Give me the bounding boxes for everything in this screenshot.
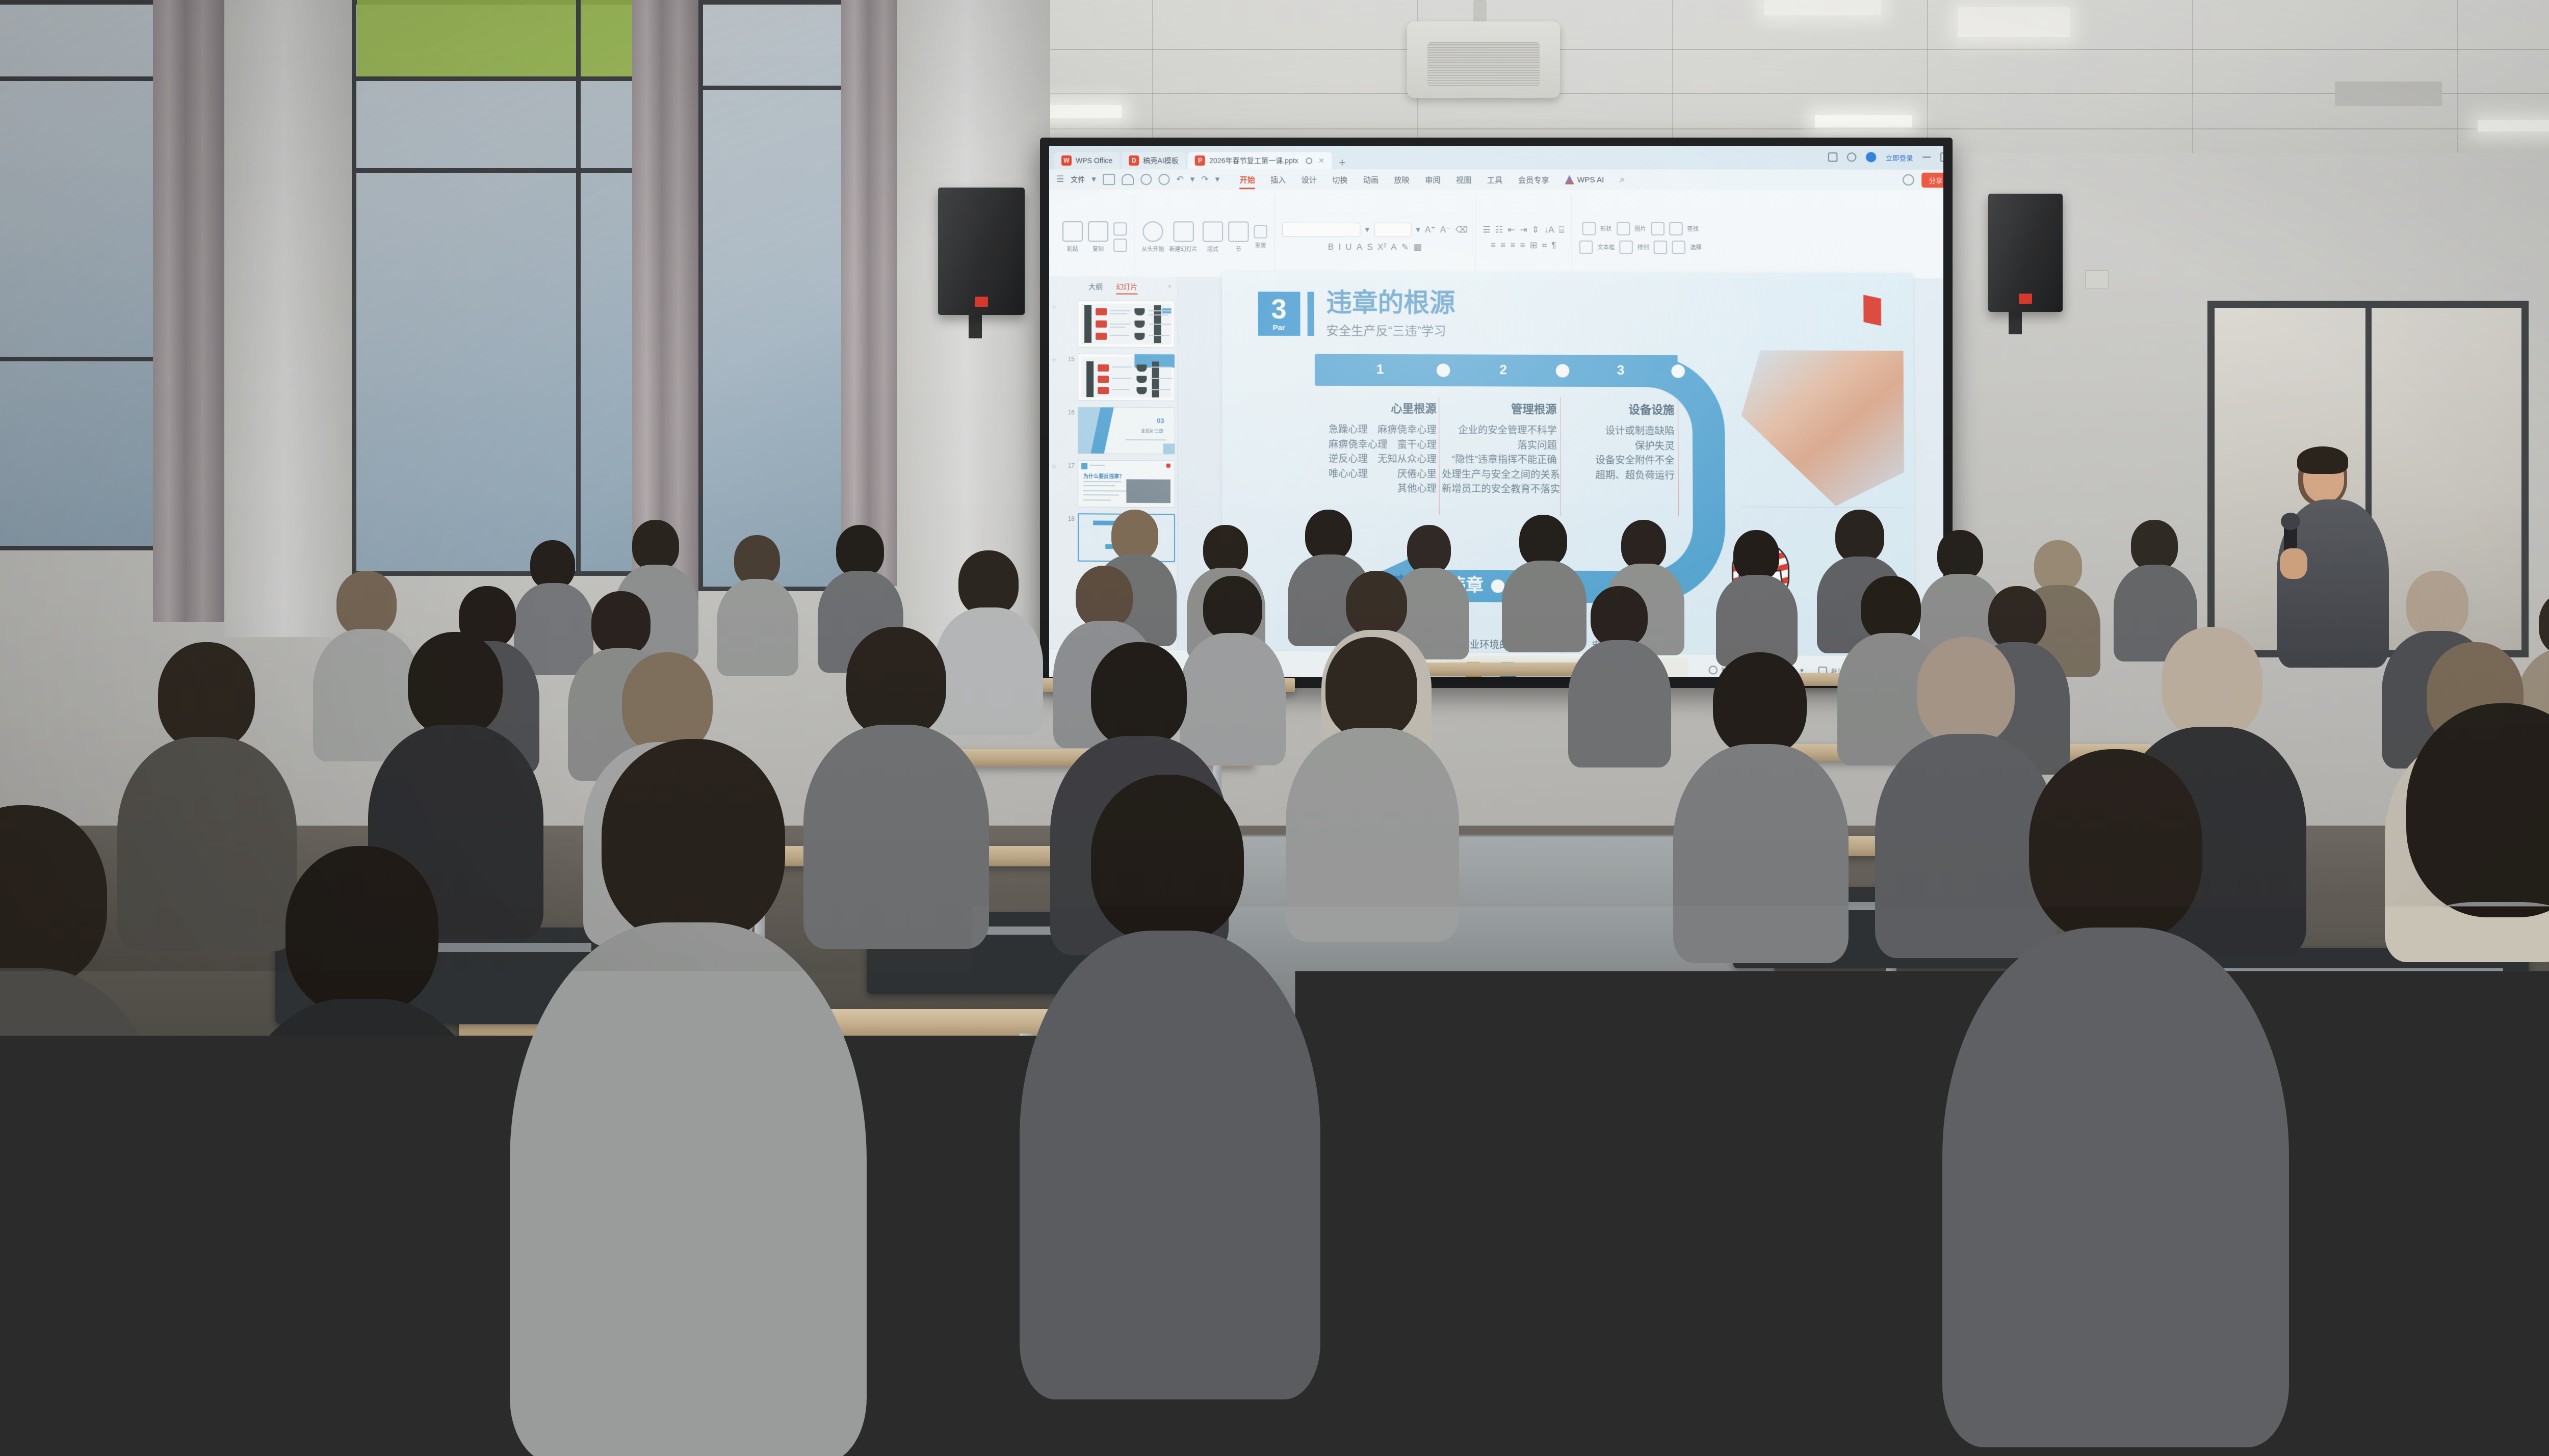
wps-ai-button[interactable]: WPS AI xyxy=(1565,175,1604,184)
column-heading: 管理根源 xyxy=(1442,400,1557,416)
justify-icon[interactable]: ≡ xyxy=(1520,241,1525,251)
ribbon-group-slides: 从头开始 新建幻灯片 版式 节 重置 xyxy=(1134,194,1275,281)
thumb-text: 03 xyxy=(1157,417,1164,425)
print-icon[interactable] xyxy=(1122,174,1134,185)
column-line: 落实问题 xyxy=(1442,438,1557,453)
column-line: 处理生产与安全之间的关系 xyxy=(1442,467,1557,483)
textbox-icon[interactable] xyxy=(1579,241,1593,254)
bullets-icon[interactable]: ☰ xyxy=(1482,225,1491,235)
editor-body: 大纲 幻灯片 ‹ ☆ xyxy=(1049,276,1943,657)
quick-access-toolbar: ☰ 文件 ▾ ↶ ▾ ↷ ▾ 开始 插入 设计 切换 动画 放映 审阅 xyxy=(1049,169,1943,190)
ribbon-group-paragraph: ☰ ☷ ⇤ ⇥ ⇕ ↓A ⌸ ≡ ≡ ≡ ≡ xyxy=(1475,194,1572,282)
select-icon[interactable] xyxy=(1672,241,1685,254)
ribbon-label: 图片 xyxy=(1634,225,1646,233)
copy-icon[interactable] xyxy=(1088,221,1108,242)
undo-icon[interactable]: ↶ xyxy=(1176,174,1183,184)
ribbon-tab-design[interactable]: 设计 xyxy=(1302,173,1317,186)
decrease-indent-icon[interactable]: ⇤ xyxy=(1508,225,1516,235)
font-family-select[interactable] xyxy=(1282,223,1361,237)
align-left-icon[interactable]: ≡ xyxy=(1491,241,1496,251)
slide-panel-tabs: 大纲 幻灯片 ‹ xyxy=(1049,276,1177,298)
column-line: 设备安全附件不全 xyxy=(1563,454,1675,469)
increase-indent-icon[interactable]: ⇥ xyxy=(1520,225,1527,235)
flow-step-number: 2 xyxy=(1499,362,1507,378)
app-tab-label: 2026年春节复工第一课.pptx xyxy=(1209,155,1298,166)
part-word: Par xyxy=(1272,324,1285,332)
hand xyxy=(2280,548,2307,579)
flow-column-1: 心里根源 急躁心理 麻痹侥幸心理 麻痹侥幸心理 蛮干心理 逆反心理 无知从众心理… xyxy=(1319,399,1437,497)
star-icon: ☆ xyxy=(1051,354,1058,364)
font-size-select[interactable] xyxy=(1374,223,1411,237)
paragraph-icon[interactable]: ¶ xyxy=(1551,241,1556,251)
ceiling-light xyxy=(1764,0,1881,15)
training-room-photo: W WPS Office D 稿壳AI模板 P 2026年春节复工第一课.ppt… xyxy=(0,0,2549,1456)
cut-icon[interactable] xyxy=(1113,222,1127,235)
tab-restore-icon[interactable] xyxy=(1306,157,1312,164)
app-tabstrip: W WPS Office D 稿壳AI模板 P 2026年春节复工第一课.ppt… xyxy=(1049,146,1943,170)
ceiling-light xyxy=(1958,7,2070,37)
redo-icon[interactable]: ↷ xyxy=(1201,174,1208,184)
window-left-outer xyxy=(0,0,158,550)
ribbon-label: 选择 xyxy=(1690,243,1702,251)
flow-step-number: 1 xyxy=(1376,361,1384,377)
speaker-mount xyxy=(969,312,982,338)
thumb-text: 为什么要反违章？ xyxy=(1083,472,1124,480)
column-heading: 设备设施 xyxy=(1563,400,1675,417)
restore-button[interactable] xyxy=(1940,152,1943,162)
export-pdf-icon[interactable] xyxy=(1158,174,1169,185)
column-line: 其他心理 xyxy=(1319,482,1437,497)
cloud-sync-icon[interactable] xyxy=(1903,174,1914,186)
ribbon-right-actions: 分享 xyxy=(1903,172,1943,188)
file-menu[interactable]: 文件 xyxy=(1071,174,1085,184)
chevron-left-icon[interactable]: ‹ xyxy=(1168,282,1171,290)
bold-icon[interactable]: B xyxy=(1328,242,1334,252)
shapes-icon[interactable] xyxy=(1582,222,1596,235)
star-icon: ☆ xyxy=(1051,300,1058,310)
strikethrough-icon[interactable]: S xyxy=(1367,242,1373,252)
ribbon-label: 新建幻灯片 xyxy=(1169,245,1198,253)
ribbon-tab-transition[interactable]: 切换 xyxy=(1332,173,1347,186)
chevron-down-icon[interactable]: ▾ xyxy=(1416,225,1420,235)
cube-icon[interactable] xyxy=(1847,152,1857,162)
green-facade-band xyxy=(357,0,635,76)
wall-socket xyxy=(2085,270,2109,288)
align-center-icon[interactable]: ≡ xyxy=(1500,241,1505,251)
slide-number: 15 xyxy=(1061,354,1075,363)
wps-office-window[interactable]: W WPS Office D 稿壳AI模板 P 2026年春节复工第一课.ppt… xyxy=(1049,146,1943,677)
fill-icon[interactable] xyxy=(1651,222,1664,235)
distribute-icon[interactable]: ⊞ xyxy=(1530,241,1538,251)
numbering-icon[interactable]: ☷ xyxy=(1495,225,1503,235)
ribbon-label: 排列 xyxy=(1637,243,1649,251)
column-line: 企业的安全管理不科学 xyxy=(1442,423,1557,439)
ribbon-label: 复制 xyxy=(1093,245,1104,253)
reset-icon[interactable] xyxy=(1254,225,1267,239)
search-icon[interactable]: ⌕ xyxy=(1620,175,1625,185)
slide-number xyxy=(1061,300,1075,302)
ribbon-tab-view[interactable]: 视图 xyxy=(1456,173,1472,186)
column-line: 新增员工的安全教育不落实 xyxy=(1442,482,1557,497)
slide-header: 3 Par 违章的根源 安全生产反“三违”学习 xyxy=(1258,289,1455,338)
menu-icon[interactable]: ☰ xyxy=(1056,174,1064,184)
star-icon xyxy=(1051,407,1058,410)
slide-number: 17 xyxy=(1061,460,1075,469)
column-line: 急躁心理 麻痹侥幸心理 xyxy=(1319,423,1437,438)
layout-icon[interactable] xyxy=(1203,221,1223,242)
highlight-icon[interactable]: ✎ xyxy=(1401,242,1409,252)
divider xyxy=(1741,507,1904,508)
ribbon-label: 形状 xyxy=(1600,225,1611,233)
login-button[interactable]: 立即登录 xyxy=(1886,152,1913,162)
save-icon[interactable] xyxy=(1103,174,1115,185)
ribbon-tab-tools[interactable]: 工具 xyxy=(1487,173,1503,186)
slide-thumbnail[interactable] xyxy=(1078,354,1175,401)
pptx-icon: P xyxy=(1195,155,1205,166)
ribbon-label: 从头开始 xyxy=(1141,245,1164,253)
slide-thumbnail[interactable] xyxy=(1078,300,1175,348)
wps-ai-label: WPS AI xyxy=(1577,175,1604,184)
clear-format-icon[interactable]: ⌫ xyxy=(1455,225,1467,235)
font-color-icon[interactable]: A xyxy=(1391,242,1397,252)
align-right-icon[interactable]: ≡ xyxy=(1510,241,1515,251)
avatar[interactable] xyxy=(1866,152,1877,162)
thumb-caption: 全员反“三违” xyxy=(1141,428,1164,434)
app-tab-template[interactable]: D 稿壳AI模板 xyxy=(1122,152,1186,169)
section-icon[interactable] xyxy=(1228,222,1249,242)
app-tab-presentation[interactable]: P 2026年春节复工第一课.pptx ✕ xyxy=(1188,152,1332,169)
red-flag-shape xyxy=(1863,295,1881,326)
ribbon-label: 版式 xyxy=(1207,245,1218,253)
star-icon xyxy=(1051,513,1058,516)
ceiling-light xyxy=(1815,115,1912,127)
ceiling-ac-cassette-icon xyxy=(1407,21,1560,98)
wall-speaker-right xyxy=(1988,194,2063,312)
ribbon-label: 粘贴 xyxy=(1067,245,1078,253)
column-heading: 心里根源 xyxy=(1319,399,1437,416)
column-line: 麻痹侥幸心理 蛮干心理 xyxy=(1319,437,1437,453)
chevron-down-icon[interactable]: ▾ xyxy=(1190,174,1195,184)
list-item[interactable]: ☆ 15 xyxy=(1051,354,1175,401)
ribbon-label: 节 xyxy=(1236,245,1241,253)
ribbon-group-font: ▾ ▾ A⁺ A⁻ ⌫ B I U A S X² xyxy=(1275,194,1476,281)
start-slideshow-icon[interactable] xyxy=(1142,221,1163,242)
slide-thumbnail[interactable]: 为什么要反违章？ xyxy=(1078,460,1175,508)
handshake-photo xyxy=(1741,350,1904,507)
format-painter-icon[interactable] xyxy=(1113,239,1127,252)
column-line: 唯心心理 厌倦心里 xyxy=(1319,467,1437,482)
text-layout-icon[interactable]: ⌗ xyxy=(1542,241,1547,251)
part-number: 3 xyxy=(1271,296,1286,323)
new-tab-button[interactable]: + xyxy=(1334,156,1350,169)
flow-step-number: 3 xyxy=(1617,362,1625,378)
part-badge: 3 Par xyxy=(1258,292,1300,336)
wall-display[interactable]: W WPS Office D 稿壳AI模板 P 2026年春节复工第一课.ppt… xyxy=(1049,146,1943,677)
app-tab-label: 稿壳AI模板 xyxy=(1143,155,1179,166)
rotate-icon[interactable] xyxy=(1654,241,1668,254)
ribbon-group-clipboard: 粘贴 复制 xyxy=(1055,194,1134,281)
print-preview-icon[interactable] xyxy=(1140,174,1152,185)
decrease-font-icon[interactable]: A⁻ xyxy=(1440,225,1451,235)
window-controls: 立即登录 xyxy=(1828,152,1943,162)
column-line: 保护失灵 xyxy=(1563,439,1675,454)
slide-number: 16 xyxy=(1061,407,1075,416)
wps-logo-icon: W xyxy=(1061,155,1072,166)
shadow-icon[interactable]: A xyxy=(1357,242,1363,252)
app-tab-label: WPS Office xyxy=(1076,156,1112,165)
ribbon-group-drawing: 形状 图片 查找 文本框 排列 选择 xyxy=(1572,194,1709,282)
tab-slides[interactable]: 幻灯片 xyxy=(1116,282,1137,295)
star-icon: ☆ xyxy=(1051,460,1058,470)
ribbon-label: 重置 xyxy=(1255,242,1266,250)
picture-icon[interactable] xyxy=(1617,222,1630,235)
align-text-icon[interactable]: ⌸ xyxy=(1559,225,1564,235)
char-shading-icon[interactable]: ▩ xyxy=(1413,242,1421,252)
line-spacing-icon[interactable]: ⇕ xyxy=(1532,225,1540,235)
wall-sign xyxy=(2335,82,2442,106)
curtain xyxy=(841,0,902,586)
ribbon-label: 文本框 xyxy=(1598,243,1615,251)
underline-icon[interactable]: U xyxy=(1345,242,1351,252)
find-icon[interactable] xyxy=(1669,222,1683,235)
list-item[interactable]: 16 03 全员反“三违” xyxy=(1051,407,1175,455)
window-left-inner xyxy=(352,0,637,576)
slide-subtitle: 安全生产反“三违”学习 xyxy=(1326,321,1455,339)
ribbon-tab-slideshow[interactable]: 放映 xyxy=(1394,173,1409,186)
share-button[interactable]: 分享 xyxy=(1921,172,1943,187)
chevron-down-icon[interactable]: ▾ xyxy=(1215,174,1220,184)
text-direction-icon[interactable]: ↓A xyxy=(1544,225,1554,235)
column-line: “隐性”违章指挥不能正确 xyxy=(1442,453,1557,468)
ribbon-tabs: 开始 插入 设计 切换 动画 放映 审阅 视图 工具 会员专享 WPS AI ⌕ xyxy=(1240,173,1625,187)
curtain xyxy=(153,0,224,622)
chevron-down-icon[interactable]: ▾ xyxy=(1091,174,1096,184)
ribbon-tab-review[interactable]: 审阅 xyxy=(1425,173,1440,186)
list-item[interactable]: ☆ xyxy=(1051,300,1175,348)
italic-icon[interactable]: I xyxy=(1338,242,1341,252)
paste-icon[interactable] xyxy=(1062,221,1083,242)
ribbon-tab-animation[interactable]: 动画 xyxy=(1363,173,1378,186)
arrange-icon[interactable] xyxy=(1619,241,1633,254)
flow-column-3: 设备设施 设计或制造缺陷 保护失灵 设备安全附件不全 超期、超负荷运行 xyxy=(1563,400,1675,483)
title-accent-bar xyxy=(1307,292,1314,336)
wall-speaker-left xyxy=(938,188,1025,315)
new-slide-icon[interactable] xyxy=(1173,221,1193,242)
flow-column-2: 管理根源 企业的安全管理不科学 落实问题 “隐性”违章指挥不能正确 处理生产与安… xyxy=(1442,400,1557,497)
slide-title: 违章的根源 xyxy=(1326,289,1455,317)
ceiling-light xyxy=(2478,120,2549,131)
wall-pillar xyxy=(224,0,357,637)
ai-icon xyxy=(1565,175,1574,184)
magic-wand-icon xyxy=(1709,666,1718,674)
ribbon-tab-start[interactable]: 开始 xyxy=(1240,173,1255,186)
slide-thumbnail[interactable]: 03 全员反“三违” xyxy=(1078,407,1175,454)
slide-number: 18 xyxy=(1061,513,1075,522)
ribbon-label: 查找 xyxy=(1687,225,1699,233)
close-icon[interactable]: ✕ xyxy=(1318,156,1324,165)
app-tab-wps-office[interactable]: W WPS Office xyxy=(1054,152,1120,169)
list-item[interactable]: ☆ 17 为什么要反违章？ xyxy=(1051,460,1175,508)
ribbon-tab-member[interactable]: 会员专享 xyxy=(1518,173,1549,186)
ribbon-tab-insert[interactable]: 插入 xyxy=(1270,173,1286,186)
column-line: 设计或制造缺陷 xyxy=(1563,424,1675,439)
minimize-button[interactable] xyxy=(1922,156,1931,157)
superscript-icon[interactable]: X² xyxy=(1377,242,1386,252)
tab-outline[interactable]: 大纲 xyxy=(1088,281,1103,294)
chevron-down-icon[interactable]: ▾ xyxy=(1365,225,1370,235)
column-line: 逆反心理 无知从众心理 xyxy=(1319,452,1437,467)
increase-font-icon[interactable]: A⁺ xyxy=(1425,225,1436,235)
curtain xyxy=(632,0,698,601)
backup-icon[interactable] xyxy=(1828,152,1838,162)
template-icon: D xyxy=(1129,155,1139,166)
column-line: 超期、超负荷运行 xyxy=(1563,468,1675,483)
